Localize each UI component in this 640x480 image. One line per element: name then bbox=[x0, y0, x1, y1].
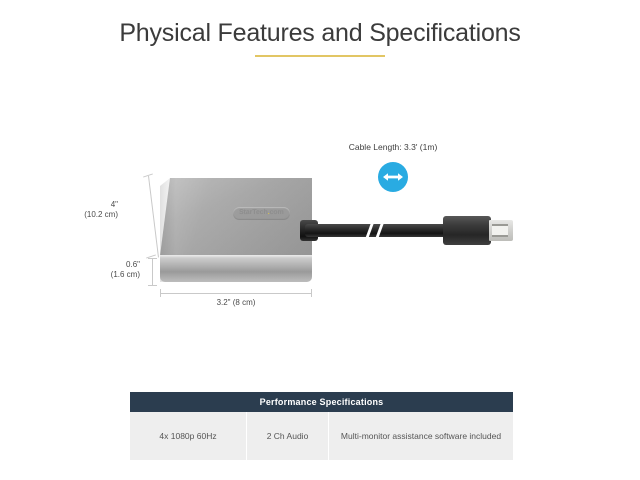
spec-table-row: 4x 1080p 60Hz 2 Ch Audio Multi-monitor a… bbox=[130, 412, 513, 460]
startech-logo-suffix: com bbox=[269, 209, 283, 216]
performance-specifications-table: Performance Specifications 4x 1080p 60Hz… bbox=[130, 392, 513, 460]
depth-dimension-tick-bottom bbox=[148, 285, 157, 286]
page-header: Physical Features and Specifications bbox=[0, 18, 640, 57]
width-dimension-line bbox=[160, 293, 312, 294]
width-dimension-label: 3.2" (8 cm) bbox=[160, 298, 312, 308]
spec-cell-software: Multi-monitor assistance software includ… bbox=[329, 412, 513, 460]
width-dimension-tick-right bbox=[311, 289, 312, 297]
spec-cell-audio: 2 Ch Audio bbox=[247, 412, 329, 460]
double-arrow-icon bbox=[383, 171, 403, 183]
device-front-highlight bbox=[160, 255, 312, 258]
device-front-bevel bbox=[160, 255, 312, 282]
height-dimension-label: 4" (10.2 cm) bbox=[46, 200, 118, 220]
cable-length-badge bbox=[378, 162, 408, 192]
cable-length-callout: Cable Length: 3.3' (1m) bbox=[318, 142, 468, 192]
startech-logo: StarTech.com bbox=[233, 207, 290, 220]
product-illustration: 4" (10.2 cm) 0.6" (1.6 cm) StarTech.com … bbox=[0, 130, 640, 340]
width-dimension-tick-left bbox=[160, 289, 161, 297]
usb-a-connector-shell bbox=[443, 216, 491, 245]
page-title: Physical Features and Specifications bbox=[0, 18, 640, 48]
spec-cell-resolution: 4x 1080p 60Hz bbox=[130, 412, 247, 460]
height-dimension-line bbox=[148, 176, 159, 258]
spec-table-header: Performance Specifications bbox=[130, 392, 513, 412]
cable-break-marks bbox=[363, 214, 389, 248]
depth-dimension-label: 0.6" (1.6 cm) bbox=[60, 260, 140, 280]
usb-a-connector-tongue bbox=[492, 224, 508, 237]
title-underline-rule bbox=[255, 55, 385, 57]
device-body: StarTech.com bbox=[160, 178, 312, 286]
depth-dimension-tick-top bbox=[148, 258, 157, 259]
startech-logo-name: StarTech bbox=[239, 209, 268, 216]
depth-dimension-line bbox=[152, 258, 153, 286]
cable-length-label: Cable Length: 3.3' (1m) bbox=[318, 142, 468, 153]
